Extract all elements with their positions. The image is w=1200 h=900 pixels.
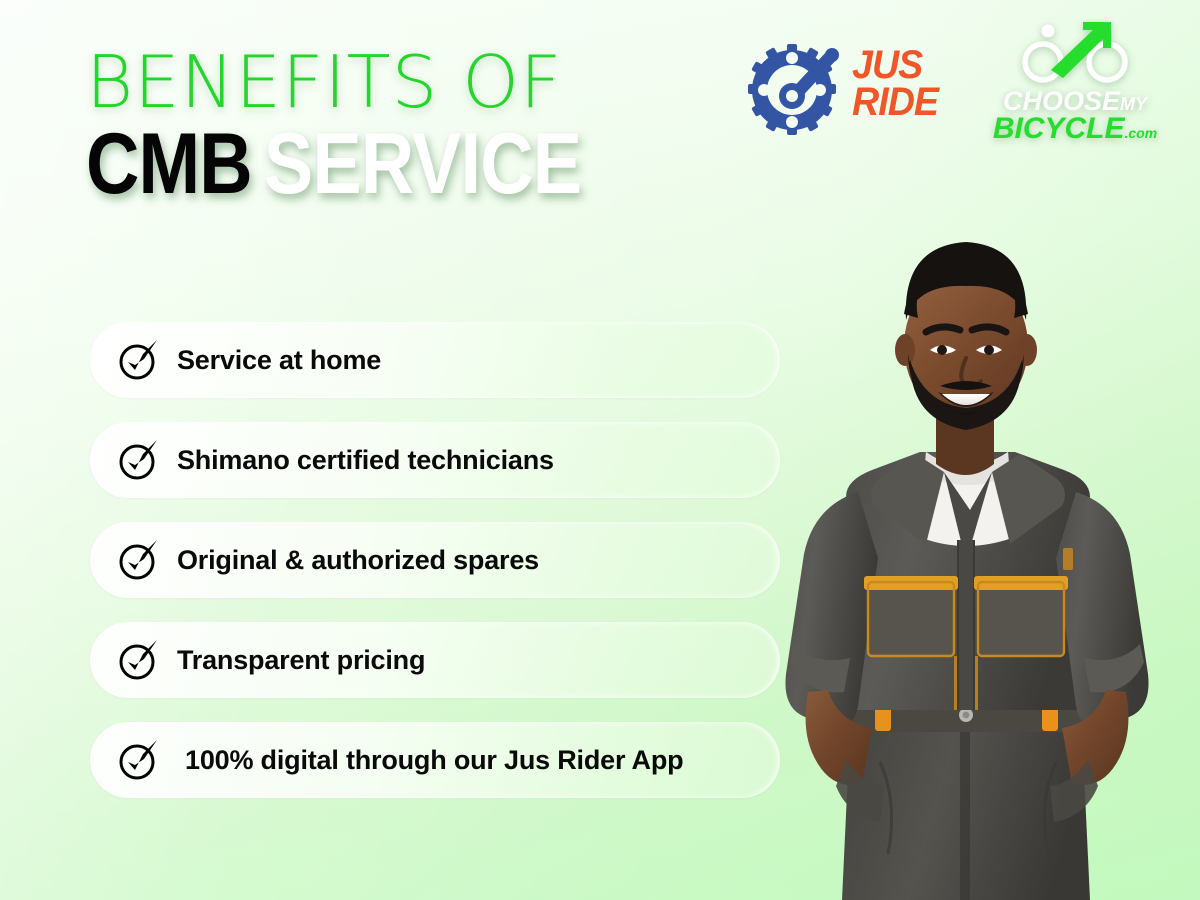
cmb-word-row-2: BICYCLE.com [982, 114, 1168, 144]
chainring-crank-icon [742, 32, 846, 136]
check-circle-icon [117, 538, 161, 582]
headline-service-text: SERVICE [264, 116, 581, 212]
choosemybicycle-wordmark: CHOOSEMY BICYCLE.com [982, 88, 1168, 144]
headline-cmb-text: CMB [86, 116, 252, 212]
jusride-word-top: JUS [852, 47, 938, 84]
benefit-pill[interactable]: Original & authorized spares [90, 522, 780, 598]
bicycle-arrow-icon [1019, 22, 1131, 84]
cmb-word-dotcom: .com [1125, 125, 1158, 141]
benefit-label: Shimano certified technicians [177, 445, 554, 476]
choosemybicycle-logo[interactable]: CHOOSEMY BICYCLE.com [982, 22, 1168, 158]
headline-line-1: BENEFITS OF [86, 48, 726, 117]
check-circle-icon [117, 338, 161, 382]
check-circle-icon [117, 738, 161, 782]
benefit-pill[interactable]: 100% digital through our Jus Rider App [90, 722, 780, 798]
benefit-label: Transparent pricing [177, 645, 425, 676]
benefit-label: 100% digital through our Jus Rider App [185, 745, 683, 776]
promo-poster: BENEFITS OF CMBSERVICE [0, 0, 1200, 900]
cmb-word-my: MY [1120, 94, 1147, 114]
benefit-label: Original & authorized spares [177, 545, 539, 576]
check-circle-icon [117, 438, 161, 482]
cmb-word-row-1: CHOOSEMY [982, 88, 1168, 115]
technician-photo [730, 210, 1200, 900]
benefit-pill[interactable]: Service at home [90, 322, 780, 398]
headline-block: BENEFITS OF CMBSERVICE [86, 48, 726, 207]
jusride-logo[interactable]: JUS RIDE [742, 26, 942, 142]
check-circle-icon [117, 638, 161, 682]
benefit-pill[interactable]: Transparent pricing [90, 622, 780, 698]
cmb-word-bicycle: BICYCLE [993, 112, 1125, 145]
benefits-list: Service at home Shimano certified techni… [90, 322, 780, 798]
headline-line-2: CMBSERVICE [86, 121, 636, 207]
technician-illustration [730, 210, 1200, 900]
jusride-word-bottom: RIDE [852, 84, 938, 121]
jusride-wordmark: JUS RIDE [852, 47, 938, 121]
benefit-pill[interactable]: Shimano certified technicians [90, 422, 780, 498]
benefit-label: Service at home [177, 345, 381, 376]
